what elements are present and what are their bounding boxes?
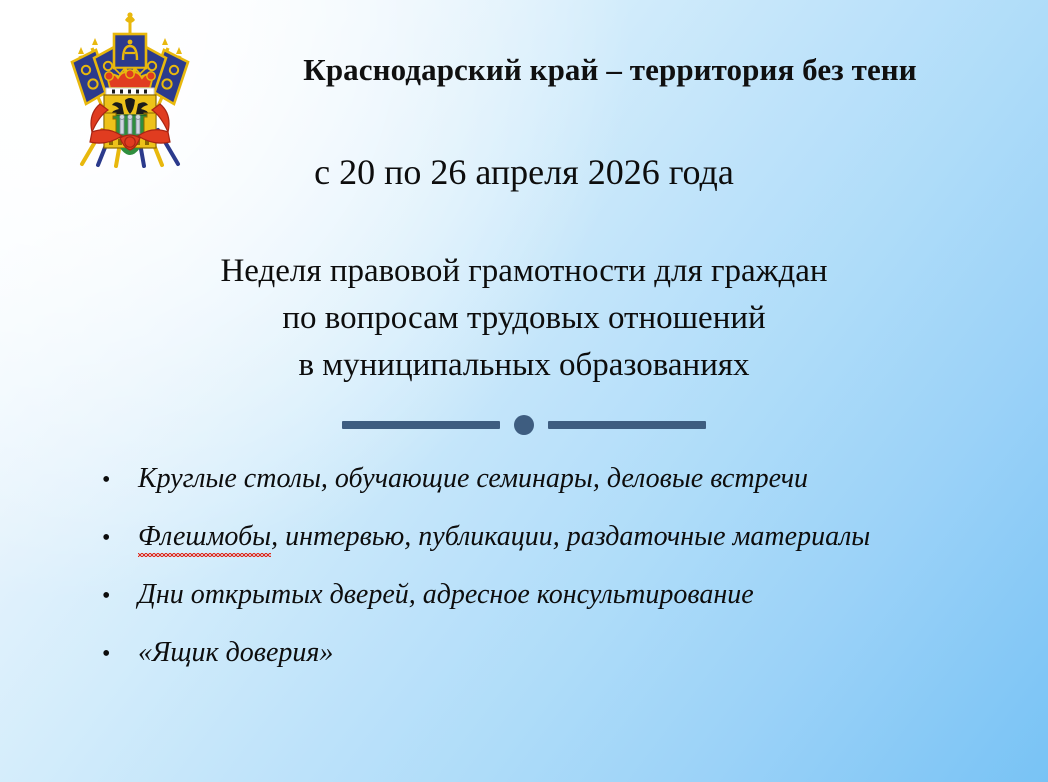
bullet-marker-icon: • bbox=[96, 584, 138, 608]
list-item-label: Дни открытых дверей, адресное консультир… bbox=[138, 578, 1006, 612]
list-item: • Дни открытых дверей, адресное консульт… bbox=[96, 578, 1006, 612]
list-item: • «Ящик доверия» bbox=[96, 636, 1006, 670]
divider-bar-left bbox=[342, 421, 500, 429]
event-date-range: с 20 по 26 апреля 2026 года bbox=[124, 152, 924, 193]
subtitle-line-2: по вопросам трудовых отношений bbox=[124, 295, 924, 342]
coat-of-arms-krasnodar-krai-icon bbox=[62, 12, 198, 170]
list-item-label: Круглые столы, обучающие семинары, делов… bbox=[138, 462, 1006, 496]
presentation-slide: Краснодарский край – территория без тени… bbox=[0, 0, 1048, 782]
bullet-marker-icon: • bbox=[96, 642, 138, 666]
bullet-marker-icon: • bbox=[96, 468, 138, 492]
decorative-divider bbox=[342, 412, 706, 438]
subtitle-line-3: в муниципальных образованиях bbox=[124, 342, 924, 389]
list-item-label: Флешмобы, интервью, публикации, раздаточ… bbox=[138, 520, 1006, 554]
bullet-marker-icon: • bbox=[96, 526, 138, 550]
subtitle-line-1: Неделя правовой грамотности для граждан bbox=[124, 248, 924, 295]
list-item-label: «Ящик доверия» bbox=[138, 636, 1006, 670]
divider-bar-right bbox=[548, 421, 706, 429]
list-item-label-rest: , интервью, публикации, раздаточные мате… bbox=[271, 521, 870, 552]
divider-dot-icon bbox=[514, 415, 534, 435]
spellcheck-error-word: Флешмобы bbox=[138, 520, 271, 554]
slide-title: Краснодарский край – территория без тени bbox=[210, 52, 1010, 88]
activities-list: • Круглые столы, обучающие семинары, дел… bbox=[96, 462, 1006, 671]
list-item: • Флешмобы, интервью, публикации, раздат… bbox=[96, 520, 1006, 554]
list-item: • Круглые столы, обучающие семинары, дел… bbox=[96, 462, 1006, 496]
slide-subtitle: Неделя правовой грамотности для граждан … bbox=[124, 248, 924, 389]
